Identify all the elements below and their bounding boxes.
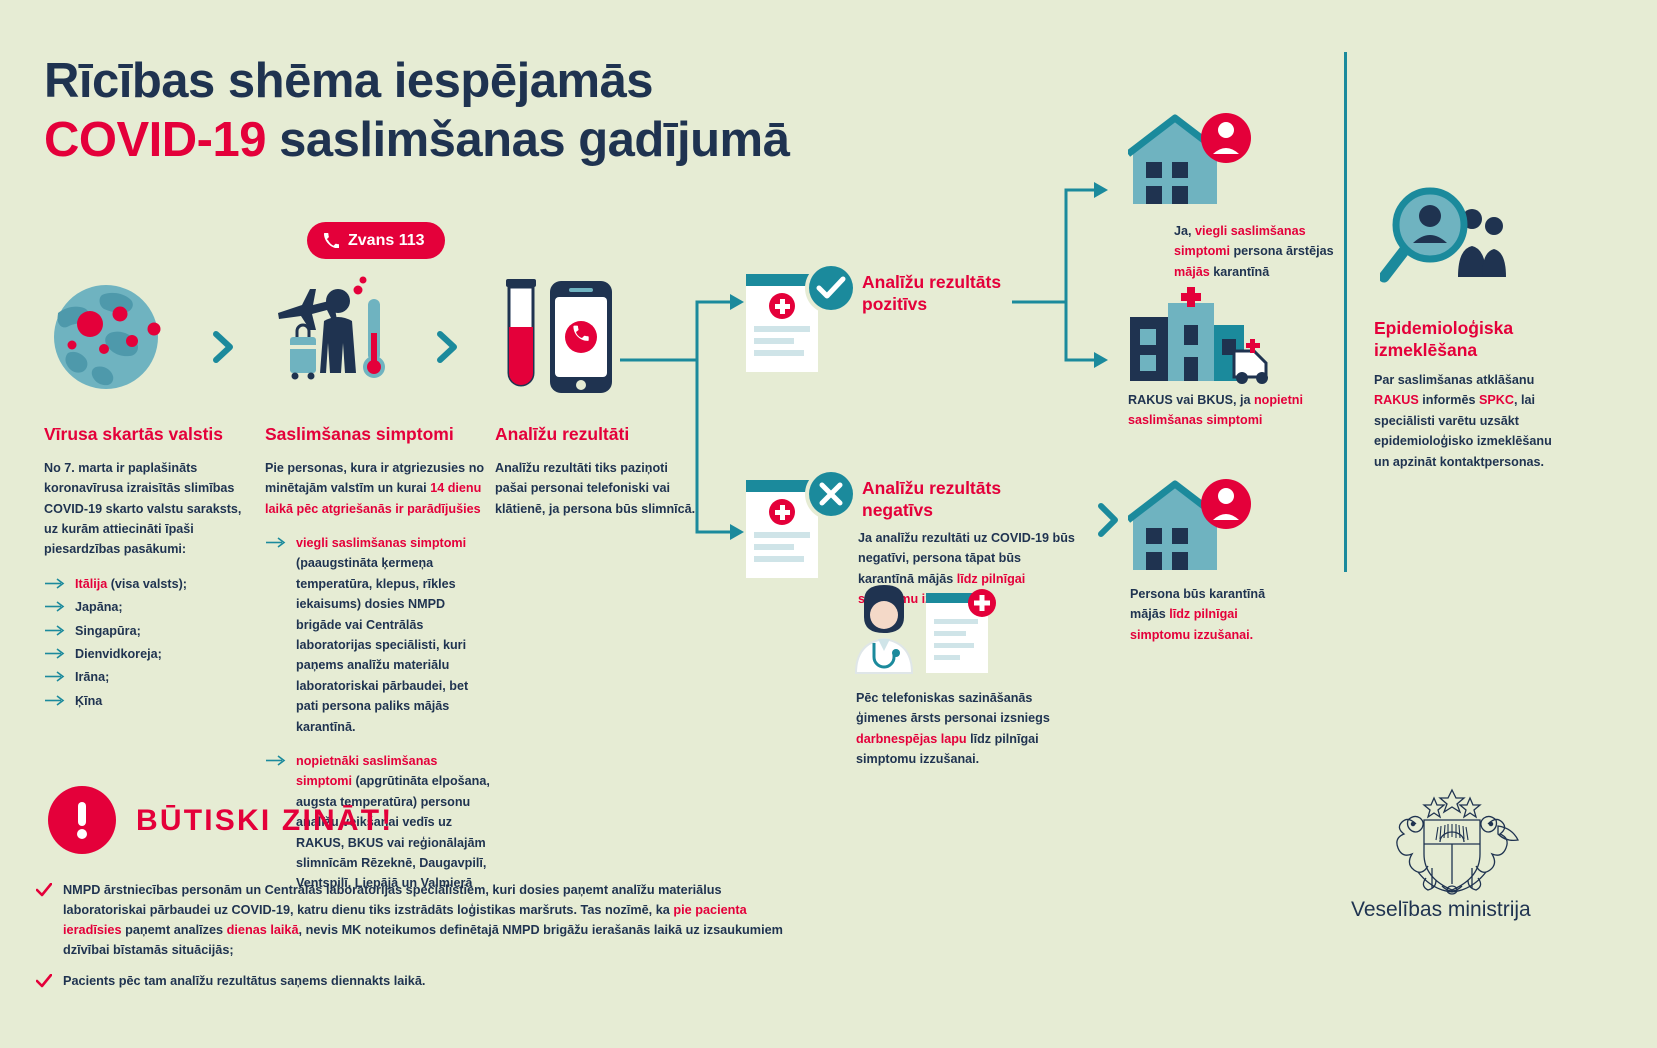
negative-branch-connector-icon: [1096, 500, 1126, 545]
symptom-item: viegli saslimšanas simptomi (paaugstināt…: [265, 533, 493, 737]
country-label: Itālija (visa valsts);: [75, 574, 187, 594]
countries-list: Itālija (visa valsts);Japāna;Singapūra;D…: [44, 574, 249, 711]
step-affected-countries: Vīrusa skartās valstis No 7. marta ir pa…: [44, 424, 249, 714]
important-bullet-text: NMPD ārstniecības personām un Centrālās …: [63, 880, 806, 960]
arrow-right-icon: [44, 601, 66, 612]
arrow-right-icon: [44, 671, 66, 682]
step-body: No 7. marta ir paplašināts koronavīrusa …: [44, 458, 249, 560]
page-title: Rīcības shēma iespējamās COVID-19 saslim…: [44, 52, 1044, 170]
check-circle-icon: [805, 262, 857, 319]
chevron-2-icon: [436, 330, 460, 369]
positive-branch-home-text: Ja, viegli saslimšanas simptomi persona …: [1174, 221, 1334, 282]
country-item[interactable]: Irāna;: [44, 667, 249, 687]
traveller-symptoms-icon: [272, 275, 397, 400]
exclamation-circle-icon: [48, 786, 116, 859]
globe-icon: [44, 285, 174, 395]
cross-circle-icon: [805, 468, 857, 525]
arrow-right-icon: [265, 755, 287, 766]
step-heading: Vīrusa skartās valstis: [44, 424, 249, 446]
negative-heading-line-2: negatīvs: [862, 500, 1052, 522]
step-body: Pie personas, kura ir atgriezusies no mi…: [265, 458, 493, 519]
chevron-1-icon: [212, 330, 236, 369]
infographic-page: Rīcības shēma iespējamās COVID-19 saslim…: [0, 0, 1657, 1048]
country-item[interactable]: Singapūra;: [44, 621, 249, 641]
country-label: Japāna;: [75, 597, 123, 617]
step-heading: Saslimšanas simptomi: [265, 424, 493, 446]
positive-branch-connectors: [1010, 170, 1130, 395]
country-label: Irāna;: [75, 667, 109, 687]
magnifier-people-icon: [1380, 185, 1520, 300]
important-bullet: Pacients pēc tam analīžu rezultātus saņe…: [36, 971, 806, 991]
country-item[interactable]: Itālija (visa valsts);: [44, 574, 249, 594]
negative-branch-home-text: Persona būs karantīnā mājās līdz pilnīga…: [1130, 584, 1288, 645]
negative-result-heading: Analīžu rezultāts negatīvs: [862, 478, 1052, 522]
country-label: Dienvidkoreja;: [75, 644, 162, 664]
doctor-note-text: Pēc telefoniskas sazināšanās ģimenes ārs…: [856, 688, 1086, 770]
country-label: Ķīna: [75, 691, 102, 711]
country-item[interactable]: Dienvidkoreja;: [44, 644, 249, 664]
symptom-text: viegli saslimšanas simptomi (paaugstināt…: [296, 533, 493, 737]
important-bullets: NMPD ārstniecības personām un Centrālās …: [36, 880, 806, 1002]
check-icon: [36, 883, 52, 898]
arrow-right-icon: [265, 537, 287, 548]
country-label: Singapūra;: [75, 621, 141, 641]
title-covid-highlight: COVID-19: [44, 113, 266, 167]
country-item[interactable]: Japāna;: [44, 597, 249, 617]
ministry-label: Veselības ministrija: [1351, 898, 1531, 922]
arrow-right-icon: [44, 578, 66, 589]
important-bullet-text: Pacients pēc tam analīžu rezultātus saņe…: [63, 971, 425, 991]
phone-badge[interactable]: Zvans 113: [307, 222, 445, 259]
latvia-coat-of-arms-icon: [1372, 780, 1532, 900]
title-line-1: Rīcības shēma iespējamās: [44, 52, 1044, 111]
test-results-icon: [498, 275, 618, 405]
phone-icon: [324, 233, 339, 248]
doctor-document-icon: [852, 585, 1022, 680]
important-bullet: NMPD ārstniecības personām un Centrālās …: [36, 880, 806, 960]
check-icon: [36, 974, 52, 989]
important-title: BŪTISKI ZINĀT!: [136, 804, 393, 838]
house-person-icon: [1128, 478, 1253, 578]
hospital-ambulance-icon: [1126, 285, 1276, 390]
arrow-right-icon: [44, 695, 66, 706]
section-divider: [1344, 52, 1347, 572]
title-line-2-rest: saslimšanas gadījumā: [266, 113, 789, 167]
house-person-icon: [1128, 112, 1253, 212]
epidemiology-heading: Epidemioloģiska izmeklēšana: [1374, 318, 1554, 362]
arrow-right-icon: [44, 648, 66, 659]
epidemiology-heading-line-2: izmeklēšana: [1374, 340, 1554, 362]
positive-branch-hospital-text: RAKUS vai BKUS, ja nopietni saslimšanas …: [1128, 390, 1318, 431]
symptoms-list: viegli saslimšanas simptomi (paaugstināt…: [265, 533, 493, 894]
epidemiology-heading-line-1: Epidemioloģiska: [1374, 318, 1554, 340]
epidemiology-text: Par saslimšanas atklāšanu RAKUS informēs…: [1374, 370, 1564, 472]
title-line-2: COVID-19 saslimšanas gadījumā: [44, 111, 1044, 170]
arrow-right-icon: [44, 625, 66, 636]
country-item[interactable]: Ķīna: [44, 691, 249, 711]
phone-badge-label: Zvans 113: [348, 232, 425, 250]
negative-heading-line-1: Analīžu rezultāts: [862, 478, 1052, 500]
